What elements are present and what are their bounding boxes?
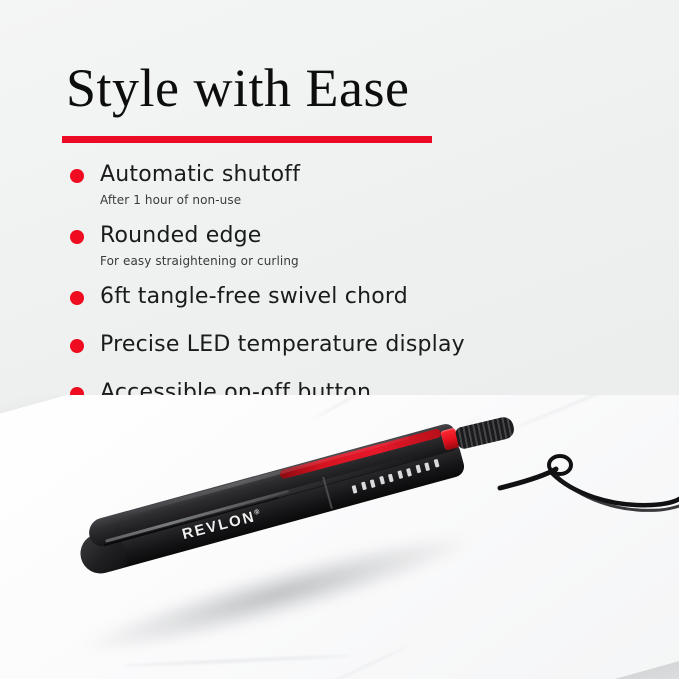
led-indicator-dot [433,459,439,468]
feature-subtitle: After 1 hour of non-use [100,191,582,209]
brand-name: REVLON [180,508,257,543]
feature-title: 6ft tangle-free swivel chord [100,282,582,312]
led-indicator-dot [415,465,421,474]
led-indicator-dot [388,473,394,482]
product-feature-poster: Style with Ease Automatic shutoff After … [0,0,679,679]
iron-handle-seam [322,477,333,509]
feature-list: Automatic shutoff After 1 hour of non-us… [62,160,582,414]
power-button[interactable] [440,427,460,450]
title-underline-rule [62,136,432,143]
led-indicator-dot [370,479,376,488]
brand-wordmark: REVLON® [180,507,262,543]
bullet-dot-icon [70,230,84,244]
feature-title: Automatic shutoff [100,160,582,190]
cord-strain-relief [454,415,516,450]
led-indicator-dot [406,468,412,477]
page-title: Style with Ease [66,58,409,118]
feature-title: Rounded edge [100,221,582,251]
feature-item-automatic-shutoff: Automatic shutoff After 1 hour of non-us… [62,160,582,209]
feature-title: Precise LED temperature display [100,330,582,360]
trademark-symbol: ® [254,509,261,517]
led-indicator-dot [424,462,430,471]
bullet-dot-icon [70,339,84,353]
product-photo: REVLON® [0,395,679,679]
iron-body-highlight [115,453,425,542]
bullet-dot-icon [70,291,84,305]
feature-item-led-display: Precise LED temperature display [62,330,582,360]
led-indicator-dot [397,471,403,480]
hair-straightener: REVLON® [78,413,471,576]
led-indicator-row [350,454,447,493]
led-indicator-dot [361,482,367,491]
feature-subtitle: For easy straightening or curling [100,252,582,270]
feature-item-swivel-chord: 6ft tangle-free swivel chord [62,282,582,312]
iron-lower-body [85,439,467,576]
led-indicator-dot [352,485,358,494]
iron-rounded-tip [76,528,129,578]
iron-upper-arm [86,422,460,549]
feature-item-rounded-edge: Rounded edge For easy straightening or c… [62,221,582,270]
bullet-dot-icon [70,169,84,183]
led-indicator-dot [379,476,385,485]
